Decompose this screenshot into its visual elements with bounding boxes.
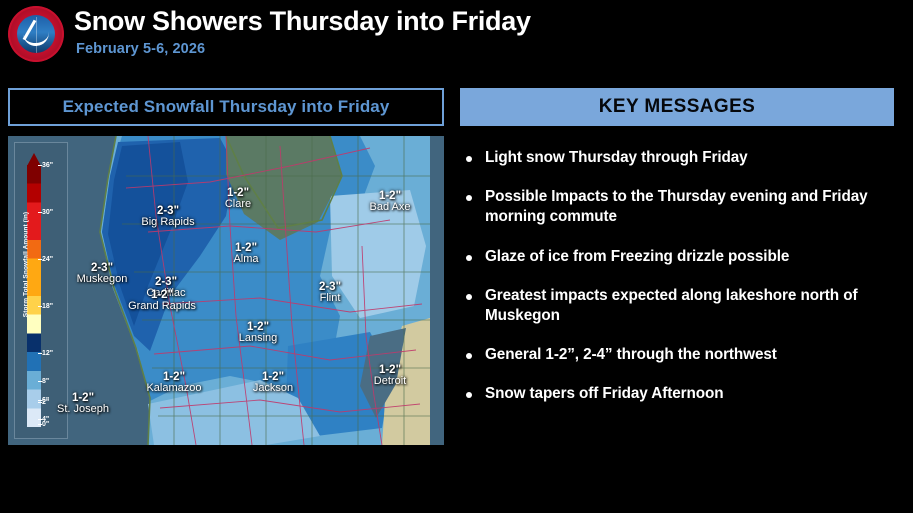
map-label-flint: 2-3" Flint: [290, 281, 370, 305]
bullet-icon: [466, 353, 472, 359]
key-messages-list: Light snow Thursday through Friday Possi…: [462, 148, 902, 424]
legend-axis-label: Storm Total Snowfall Amount (in): [23, 210, 30, 320]
map-label-kalamazoo: 1-2" Kalamazoo: [128, 371, 220, 395]
key-messages-title: KEY MESSAGES: [599, 96, 756, 118]
map-label-st-joseph: 1-2" St. Joseph: [46, 392, 120, 415]
weather-briefing-slide: Snow Showers Thursday into Friday Februa…: [0, 0, 913, 513]
bullet-icon: [466, 392, 472, 398]
snowfall-map[interactable]: 36" 30" 24" 18" 12" 8" 6" 4" 2" 0" Storm…: [8, 136, 444, 445]
key-message-item: Light snow Thursday through Friday: [462, 148, 902, 168]
key-message-item: General 1-2”, 2-4” through the northwest: [462, 345, 902, 365]
bullet-icon: [466, 255, 472, 261]
map-label-big-rapids: 2-3" Big Rapids: [126, 205, 210, 229]
key-messages-header-bar: KEY MESSAGES: [460, 88, 894, 126]
key-message-item: Possible Impacts to the Thursday evening…: [462, 187, 902, 227]
legend-tick: 0": [42, 421, 49, 428]
map-label-muskegon: 2-3" Muskegon: [56, 262, 148, 286]
bullet-icon: [466, 195, 472, 201]
map-label-jackson: 1-2" Jackson: [230, 371, 316, 395]
page-title: Snow Showers Thursday into Friday: [74, 6, 531, 37]
map-label-detroit: 1-2" Detroit: [348, 364, 432, 388]
map-label-grand-rapids: 1-2" Grand Rapids: [120, 289, 204, 313]
map-title-bar: Expected Snowfall Thursday into Friday: [8, 88, 444, 126]
map-label-lansing: 1-2" Lansing: [216, 321, 300, 345]
key-message-item: Snow tapers off Friday Afternoon: [462, 384, 902, 404]
page-subtitle-date: February 5-6, 2026: [76, 41, 205, 57]
logo-inner-circle: [17, 15, 55, 53]
map-label-alma: 1-2" Alma: [204, 242, 288, 266]
national-weather-service-logo: [8, 6, 64, 62]
key-message-item: Glaze of ice from Freezing drizzle possi…: [462, 247, 902, 267]
footer: NOAA National Oceanic and Atmospheric Ad…: [0, 470, 913, 513]
map-title: Expected Snowfall Thursday into Friday: [63, 97, 390, 117]
map-label-bad-axe: 1-2" Bad Axe: [352, 190, 428, 213]
bullet-icon: [466, 156, 472, 162]
header: Snow Showers Thursday into Friday Februa…: [0, 0, 913, 78]
bullet-icon: [466, 294, 472, 300]
legend-tick-labels-lower: 2" 0": [42, 165, 72, 427]
key-message-item: Greatest impacts expected along lakeshor…: [462, 286, 902, 326]
